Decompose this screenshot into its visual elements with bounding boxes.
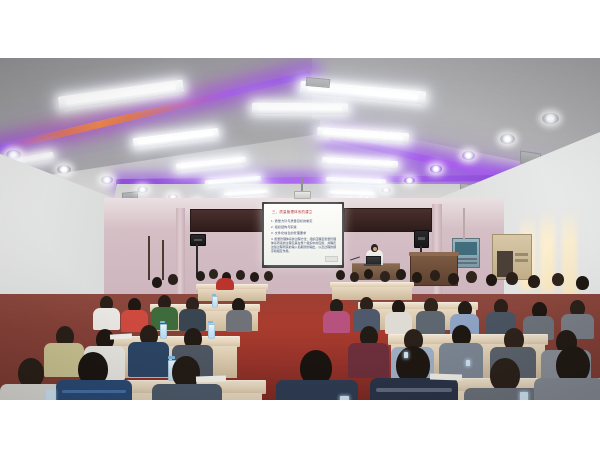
projection-screen: 三、质量管理体系的建立 1. 质量方针与质量目标的制定 2. 组织结构与职责 3…: [264, 204, 342, 265]
smartphone[interactable]: [46, 390, 55, 400]
attendee-body: [128, 342, 169, 377]
recessed-downlight: [101, 176, 113, 184]
smartphone[interactable]: [466, 360, 470, 366]
attendee-head: [168, 274, 178, 285]
attendee-table: [332, 287, 412, 300]
conference-room-photograph: 三、质量管理体系的建立 1. 质量方针与质量目标的制定 2. 组织结构与职责 3…: [0, 58, 600, 400]
cabinet-drawer: [515, 259, 528, 262]
loudspeaker-left: [190, 234, 206, 246]
attendee-head: [236, 270, 245, 280]
attendee-head: [264, 271, 273, 281]
attendee-body: [152, 384, 222, 400]
screenshot-root: 三、质量管理体系的建立 1. 质量方针与质量目标的制定 2. 组织结构与职责 3…: [0, 0, 600, 459]
water-bottle-cap: [208, 321, 213, 323]
acoustic-wall-panel-left: [190, 209, 264, 232]
control-panel-switch-row[interactable]: [455, 262, 477, 264]
attendee-head: [552, 273, 564, 286]
letterbox-bottom-bar: [0, 400, 600, 459]
attendee-head: [152, 277, 162, 288]
attendee-head: [430, 270, 440, 281]
wall-wash-light: [562, 208, 577, 300]
presenter-face: [373, 247, 377, 251]
slide-bullet: 1. 质量方针与质量目标的制定: [271, 219, 313, 223]
smartphone[interactable]: [404, 352, 408, 358]
attendee-head: [364, 269, 373, 279]
presenter-laptop-base: [364, 264, 381, 266]
attendee-head: [412, 272, 422, 283]
attendee-body: [216, 278, 234, 290]
water-bottle-cap: [168, 356, 175, 359]
attendee-body: [93, 308, 120, 330]
control-panel-switch-row[interactable]: [455, 258, 477, 260]
letterbox-top-bar: [0, 0, 600, 58]
recessed-downlight: [137, 186, 148, 193]
acoustic-wall-panel-right: [344, 208, 432, 232]
recessed-downlight: [404, 177, 415, 184]
attendee-table: [198, 289, 266, 301]
handout-paper: [430, 373, 462, 380]
attendee-body: [416, 311, 445, 334]
ceiling-troffer: [252, 103, 348, 115]
mic-stand: [148, 236, 150, 280]
shirt-stripe: [376, 388, 452, 392]
water-bottle: [160, 324, 167, 339]
attendee-head: [506, 272, 518, 285]
conduit-pipe: [463, 208, 465, 240]
shirt-stripe: [62, 390, 126, 393]
slide-bullet: 3. 文件化信息的管理要求: [271, 231, 306, 235]
water-bottle-cap: [160, 321, 165, 323]
recessed-downlight: [462, 151, 475, 160]
handout-paper: [196, 375, 226, 382]
slide-badge: [325, 256, 338, 262]
slide-bullet: 2. 组织结构与职责: [271, 225, 297, 229]
attendee-head: [380, 271, 390, 282]
attendee-head: [490, 358, 520, 392]
attendee-body: [226, 310, 252, 332]
attendee-body: [323, 311, 350, 333]
slide-paragraph: 4. 质量管理体系的过程方法：组织应确定质量管理体系所需的过程及其在整个组织中的…: [271, 238, 336, 254]
attendee-head: [466, 271, 477, 283]
attendee-body: [534, 378, 600, 400]
attendee-head: [448, 273, 459, 285]
smartphone[interactable]: [520, 392, 528, 400]
attendee-head: [486, 274, 497, 286]
slide-title: 三、质量管理体系的建立: [272, 209, 313, 214]
cabinet-drawer: [515, 253, 528, 256]
water-bottle-cap: [212, 294, 216, 296]
attendee-head: [209, 269, 218, 279]
attendee-head: [196, 271, 205, 281]
recessed-downlight: [500, 134, 515, 144]
attendee-head: [576, 276, 589, 290]
attendee-head: [396, 269, 406, 280]
wall-column-strip: [176, 208, 185, 304]
recessed-downlight: [381, 187, 391, 193]
attendee-head: [350, 272, 359, 282]
attendee-body: [348, 343, 389, 378]
water-bottle: [212, 296, 218, 308]
water-bottle: [208, 324, 215, 339]
recessed-downlight: [57, 165, 71, 174]
attendee-head: [250, 272, 259, 282]
ceiling-projector: [294, 191, 311, 199]
attendee-head: [336, 270, 345, 280]
mic-stand: [162, 240, 164, 280]
recessed-downlight: [542, 113, 559, 124]
recessed-downlight: [430, 165, 442, 173]
projector-mount-pole: [301, 178, 303, 192]
attendee-head: [528, 275, 540, 288]
